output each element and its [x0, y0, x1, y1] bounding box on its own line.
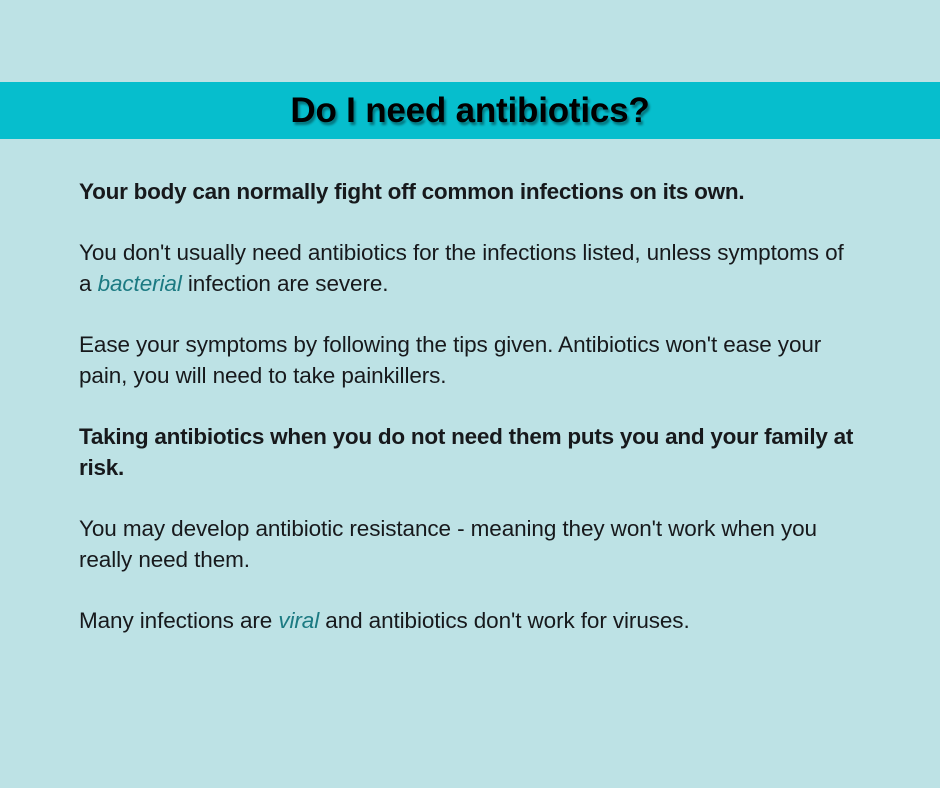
paragraph-resistance: You may develop antibiotic resistance - … [79, 513, 854, 575]
emphasis-viral: viral [278, 608, 319, 633]
slide-canvas: Do I need antibiotics? Your body can nor… [0, 0, 940, 788]
paragraph-risk-warning: Taking antibiotics when you do not need … [79, 421, 854, 483]
paragraph-viral-text-after: and antibiotics don't work for viruses. [319, 608, 689, 633]
paragraph-viral: Many infections are viral and antibiotic… [79, 605, 854, 636]
paragraph-bacterial: You don't usually need antibiotics for t… [79, 237, 854, 299]
paragraph-ease-symptoms: Ease your symptoms by following the tips… [79, 329, 854, 391]
page-title: Do I need antibiotics? [290, 93, 649, 128]
paragraph-bacterial-text-after: infection are severe. [182, 271, 389, 296]
paragraph-viral-text-before: Many infections are [79, 608, 278, 633]
paragraph-intro: Your body can normally fight off common … [79, 176, 854, 207]
emphasis-bacterial: bacterial [98, 271, 182, 296]
body-content: Your body can normally fight off common … [79, 176, 869, 636]
title-banner: Do I need antibiotics? [0, 82, 940, 139]
